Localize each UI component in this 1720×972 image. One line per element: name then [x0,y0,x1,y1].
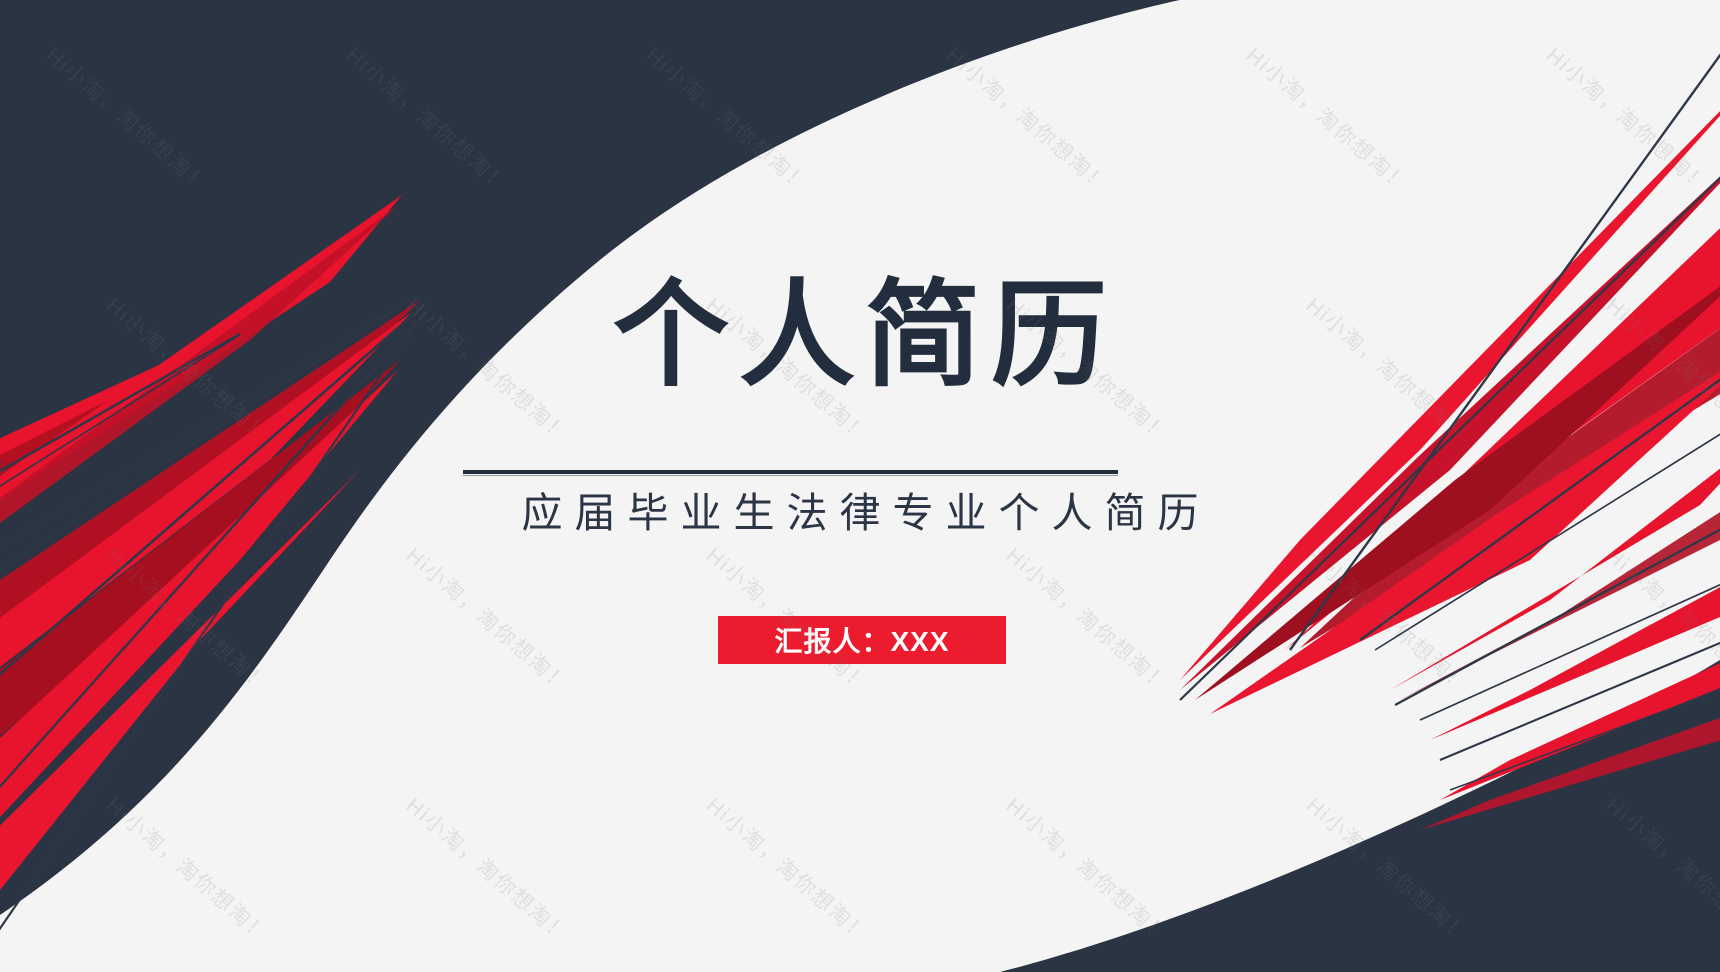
title-divider [463,470,1118,474]
slide-content: 个人简历 应届毕业生法律专业个人简历 汇报人：XXX [0,0,1720,972]
slide-subtitle: 应届毕业生法律专业个人简历 [0,493,1720,534]
presenter-badge: 汇报人：XXX [718,616,1006,664]
page-title: 个人简历 [0,277,1720,393]
presentation-slide: Hi小淘，淘你想淘！ Hi小淘，淘你想淘！ Hi小淘，淘你想淘！ Hi小淘，淘你… [0,0,1720,972]
presenter-badge-label: 汇报人：XXX [774,620,949,660]
